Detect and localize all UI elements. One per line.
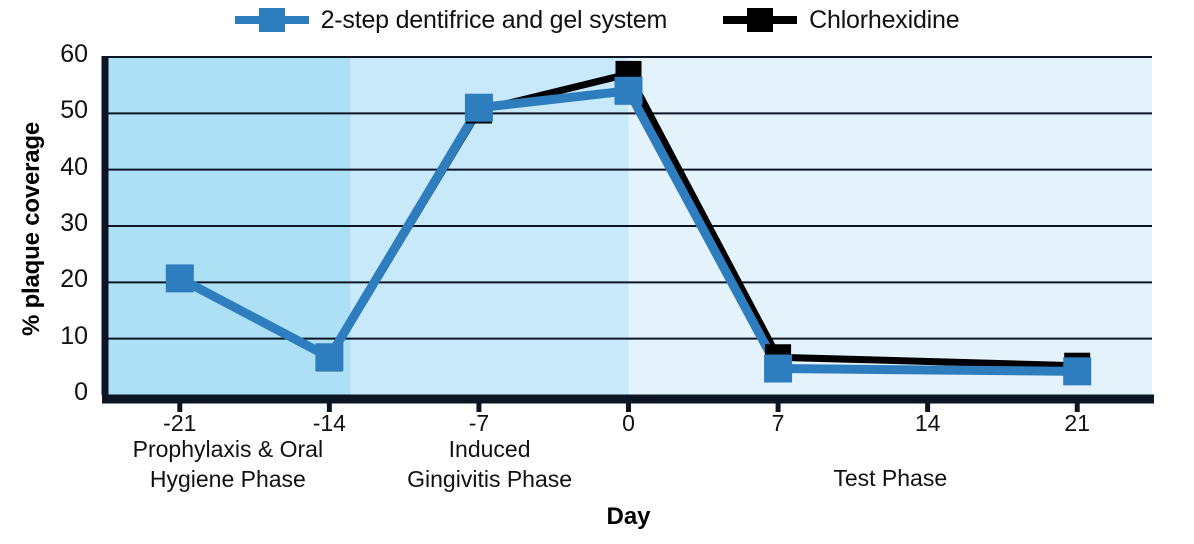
data-point-series-1-day-21 bbox=[1063, 357, 1091, 385]
data-point-series-1-day-7 bbox=[764, 355, 792, 383]
data-point-series-1-day--21 bbox=[166, 264, 194, 292]
plot-area bbox=[0, 0, 1194, 544]
data-point-series-1-day--14 bbox=[315, 343, 343, 371]
data-point-series-1-day-0 bbox=[615, 77, 643, 105]
data-point-series-1-day--7 bbox=[465, 94, 493, 122]
line-chart: % plaque coverage Day 0102030405060 -21-… bbox=[0, 0, 1194, 544]
